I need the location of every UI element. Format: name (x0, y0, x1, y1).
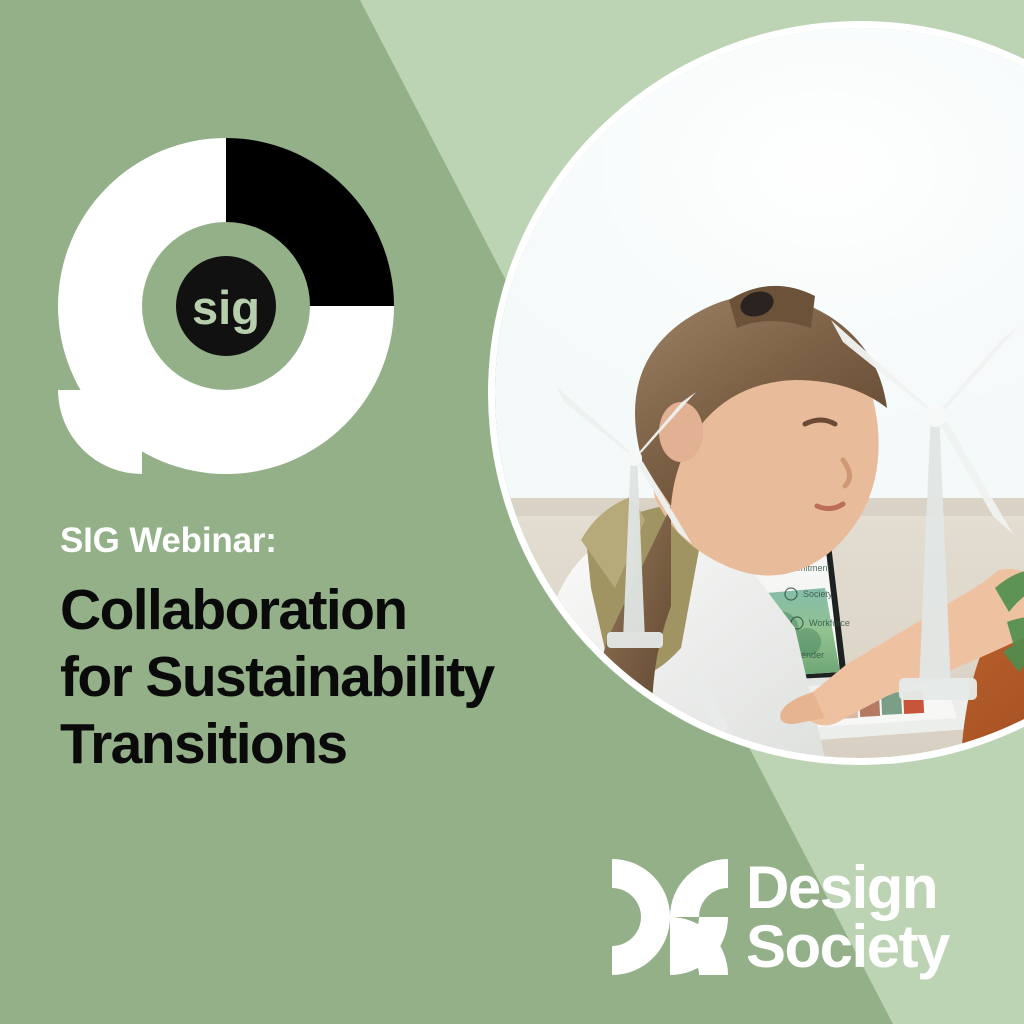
page-title: Collaboration for Sustainability Transit… (60, 577, 580, 779)
svg-text:Workforce: Workforce (809, 618, 850, 628)
title-line-2: for Sustainability (60, 644, 580, 711)
design-society-mark-icon (612, 859, 728, 975)
design-society-logo: Design Society (612, 858, 949, 977)
poster-canvas: ESG TRACKER Commitment Society Workforce… (0, 0, 1024, 1024)
svg-text:Society: Society (803, 589, 833, 599)
title-line-1: Collaboration (60, 577, 580, 644)
wordmark-line-2: Society (746, 917, 949, 976)
sig-badge-label: sig (192, 281, 260, 334)
eyebrow-label: SIG Webinar: (60, 522, 580, 561)
sig-logo: sig (58, 138, 394, 474)
headline-block: SIG Webinar: Collaboration for Sustainab… (60, 522, 580, 778)
wordmark-line-1: Design (746, 858, 949, 917)
title-line-3: Transitions (60, 711, 580, 778)
design-society-wordmark: Design Society (746, 858, 949, 977)
